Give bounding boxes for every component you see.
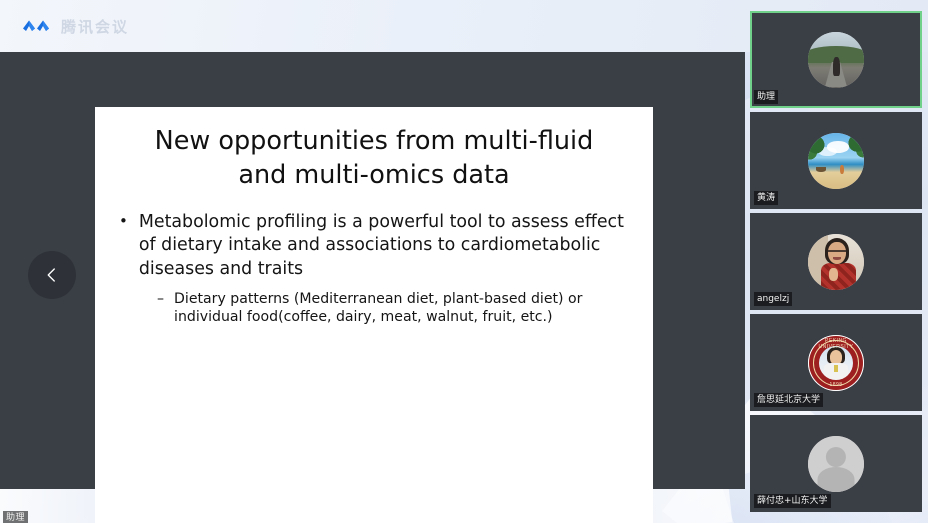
participant-name: 詹思延北京大学 — [754, 393, 823, 407]
sub-bullet-text: Dietary patterns (Mediterranean diet, pl… — [174, 290, 635, 327]
badge-bottom-text: 1898 — [808, 382, 864, 388]
presentation-stage: New opportunities from multi-fluid and m… — [0, 52, 745, 489]
shared-slide: New opportunities from multi-fluid and m… — [95, 107, 653, 523]
avatar — [808, 234, 864, 290]
meeting-window: 腾讯会议 New opportunities from multi-fluid … — [0, 0, 928, 523]
presenter-name-tag: 助理 — [3, 511, 28, 523]
default-user-avatar — [808, 436, 864, 492]
slide-bullets: • Metabolomic profiling is a powerful to… — [95, 211, 653, 326]
participant-name: 薛付忠+山东大学 — [754, 494, 831, 508]
bullet-item: • Metabolomic profiling is a powerful to… — [119, 211, 635, 280]
avatar — [808, 436, 864, 492]
sub-bullet-item: – Dietary patterns (Mediterranean diet, … — [157, 290, 635, 327]
chevron-left-icon — [43, 266, 61, 284]
avatar — [808, 32, 864, 88]
slide-title-line-1: New opportunities from multi-fluid — [123, 124, 625, 158]
avatar: PEKING UNIVERSITY 1898 — [808, 335, 864, 391]
participant-tile[interactable]: 助理 — [750, 11, 922, 108]
participant-name: 助理 — [754, 90, 778, 104]
avatar — [808, 133, 864, 189]
participant-name: 黄涛 — [754, 191, 778, 205]
participant-tile[interactable]: 薛付忠+山东大学 — [750, 415, 922, 512]
participant-filmstrip[interactable]: 助理 黄涛 angelzj — [750, 11, 922, 523]
road-photo-avatar — [808, 32, 864, 88]
slide-title-line-2: and multi-omics data — [123, 158, 625, 192]
woman-portrait-avatar — [808, 234, 864, 290]
participant-name: angelzj — [754, 292, 792, 306]
university-badge-avatar: PEKING UNIVERSITY 1898 — [808, 335, 864, 391]
bullet-marker: • — [119, 211, 128, 280]
brand-name: 腾讯会议 — [61, 16, 129, 37]
beach-photo-avatar — [808, 133, 864, 189]
badge-top-text: PEKING UNIVERSITY — [808, 338, 864, 350]
participant-tile[interactable]: PEKING UNIVERSITY 1898 詹思延北京大学 — [750, 314, 922, 411]
participant-tile[interactable]: 黄涛 — [750, 112, 922, 209]
brand: 腾讯会议 — [22, 16, 129, 37]
slide-title: New opportunities from multi-fluid and m… — [95, 124, 653, 192]
previous-slide-button[interactable] — [28, 251, 76, 299]
bullet-text: Metabolomic profiling is a powerful tool… — [139, 211, 635, 280]
tencent-meeting-logo-icon — [22, 17, 52, 35]
participant-tile[interactable]: angelzj — [750, 213, 922, 310]
sub-bullet-marker: – — [157, 290, 164, 327]
